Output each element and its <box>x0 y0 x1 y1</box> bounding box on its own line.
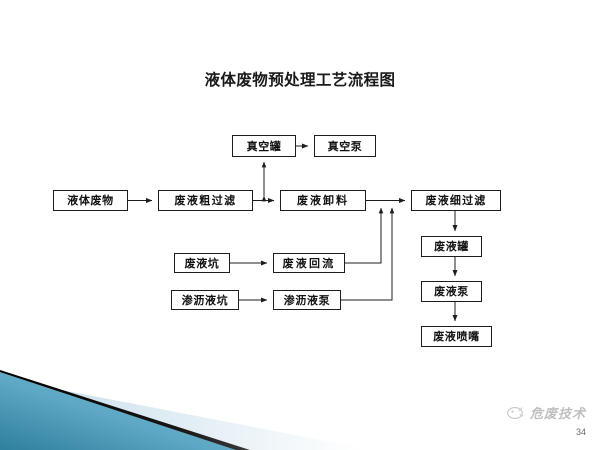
node-label: 废液喷嘴 <box>433 331 479 342</box>
watermark: 危废技术 <box>506 403 586 422</box>
edge-leachatepump-to-trunk <box>341 208 392 300</box>
node-liquid-waste[interactable]: 液体废物 <box>53 190 128 211</box>
node-label: 真空泵 <box>328 141 363 152</box>
node-waste-nozzle[interactable]: 废液喷嘴 <box>421 326 492 347</box>
watermark-text: 危废技术 <box>530 403 586 422</box>
node-label: 废液坑 <box>185 258 220 269</box>
node-vacuum-pump[interactable]: 真空泵 <box>314 135 376 157</box>
node-label: 废液泵 <box>434 286 469 297</box>
process-flow-diagram <box>0 0 600 450</box>
slide-canvas: 液体废物预处理工艺流程图 <box>0 0 600 450</box>
node-label: 渗沥液泵 <box>284 295 330 306</box>
node-leachate-pump[interactable]: 渗沥液泵 <box>273 290 341 310</box>
node-waste-pit[interactable]: 废液坑 <box>174 253 230 273</box>
node-label: 废液粗过滤 <box>175 195 237 206</box>
node-waste-unloading[interactable]: 废液卸料 <box>280 190 366 211</box>
circular-brand-logo-icon <box>506 405 525 420</box>
page-number: 34 <box>576 427 586 437</box>
node-label: 废液卸料 <box>297 195 349 206</box>
node-waste-return[interactable]: 废液回流 <box>273 253 345 273</box>
node-leachate-pit[interactable]: 渗沥液坑 <box>171 290 239 310</box>
node-label: 真空罐 <box>247 141 282 152</box>
node-label: 渗沥液坑 <box>182 295 228 306</box>
node-coarse-filter[interactable]: 废液粗过滤 <box>158 190 253 211</box>
node-label: 废液细过滤 <box>426 195 487 206</box>
node-label: 废液罐 <box>434 241 469 252</box>
node-label: 液体废物 <box>67 195 113 206</box>
node-fine-filter[interactable]: 废液细过滤 <box>411 190 501 211</box>
node-waste-pump[interactable]: 废液泵 <box>421 281 482 302</box>
node-vacuum-tank[interactable]: 真空罐 <box>232 135 296 157</box>
node-label: 废液回流 <box>283 258 336 269</box>
edge-wastereturn-to-trunk <box>345 208 381 263</box>
node-waste-tank[interactable]: 废液罐 <box>421 236 482 257</box>
